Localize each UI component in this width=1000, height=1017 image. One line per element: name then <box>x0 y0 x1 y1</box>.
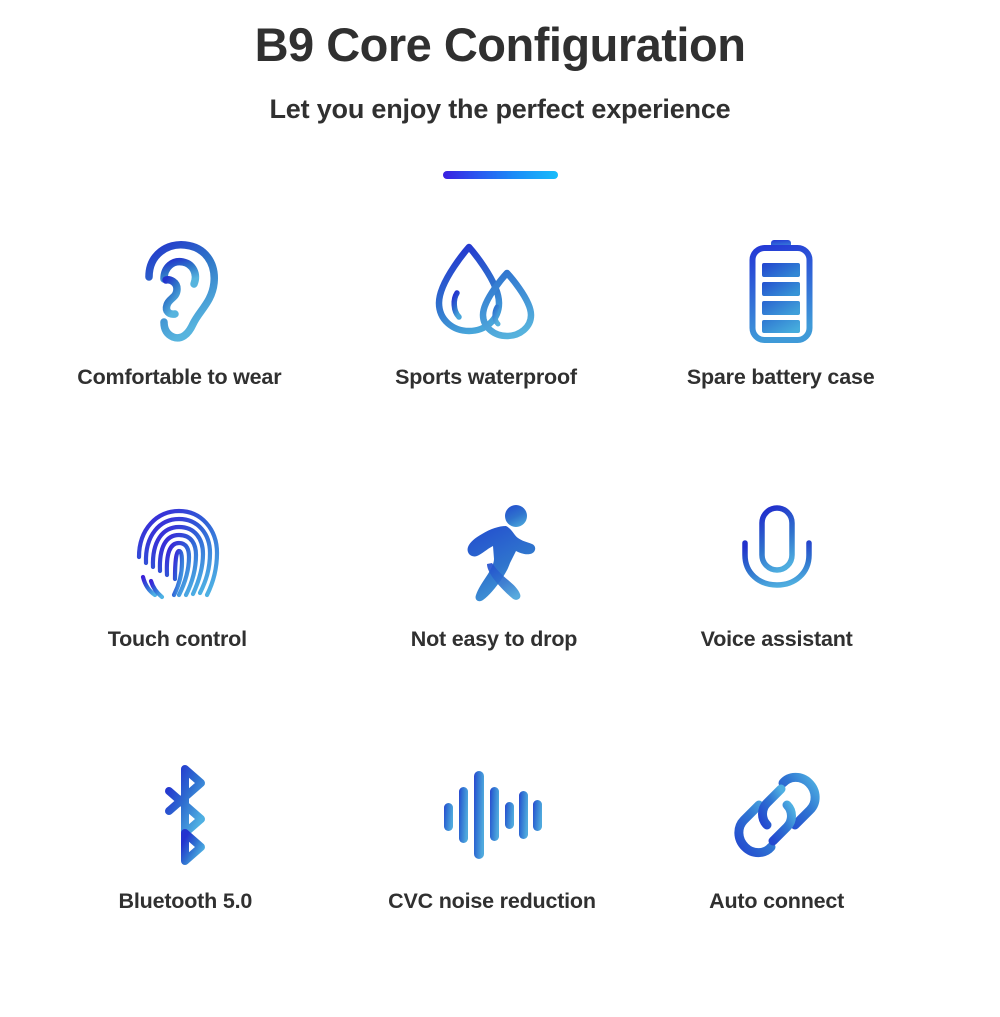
chain-link-icon <box>727 755 827 875</box>
page-subtitle: Let you enjoy the perfect experience <box>0 94 1000 125</box>
feature-item-auto-connect: Auto connect <box>649 755 948 1017</box>
feature-item-comfortable-to-wear: Comfortable to wear <box>52 231 351 493</box>
feature-label: Auto connect <box>709 889 844 914</box>
water-drops-icon <box>431 231 541 351</box>
header: B9 Core Configuration Let you enjoy the … <box>0 0 1000 179</box>
feature-label: Spare battery case <box>687 365 875 390</box>
page-title: B9 Core Configuration <box>0 18 1000 72</box>
fingerprint-icon <box>131 493 223 613</box>
feature-item-bluetooth: Bluetooth 5.0 <box>52 755 351 1017</box>
microphone-icon <box>731 493 823 613</box>
feature-item-sports-waterproof: Sports waterproof <box>351 231 650 493</box>
waveform-icon <box>442 755 542 875</box>
feature-item-voice-assistant: Voice assistant <box>649 493 948 755</box>
feature-grid: Comfortable to wear <box>0 231 1000 1017</box>
feature-label: CVC noise reduction <box>388 889 596 914</box>
feature-poster: B9 Core Configuration Let you enjoy the … <box>0 0 1000 1000</box>
bluetooth-icon <box>147 755 223 875</box>
feature-label: Comfortable to wear <box>77 365 281 390</box>
ear-icon <box>133 231 225 351</box>
running-man-icon <box>444 493 544 613</box>
feature-item-not-easy-to-drop: Not easy to drop <box>351 493 650 755</box>
feature-label: Not easy to drop <box>411 627 577 652</box>
gradient-divider <box>443 171 558 179</box>
feature-item-touch-control: Touch control <box>52 493 351 755</box>
feature-label: Sports waterproof <box>395 365 577 390</box>
feature-item-cvc-noise-reduction: CVC noise reduction <box>351 755 650 1017</box>
feature-label: Bluetooth 5.0 <box>119 889 253 914</box>
feature-label: Touch control <box>108 627 247 652</box>
divider-wrap <box>0 171 1000 179</box>
feature-label: Voice assistant <box>701 627 853 652</box>
battery-icon <box>746 231 816 351</box>
feature-item-spare-battery-case: Spare battery case <box>649 231 948 493</box>
